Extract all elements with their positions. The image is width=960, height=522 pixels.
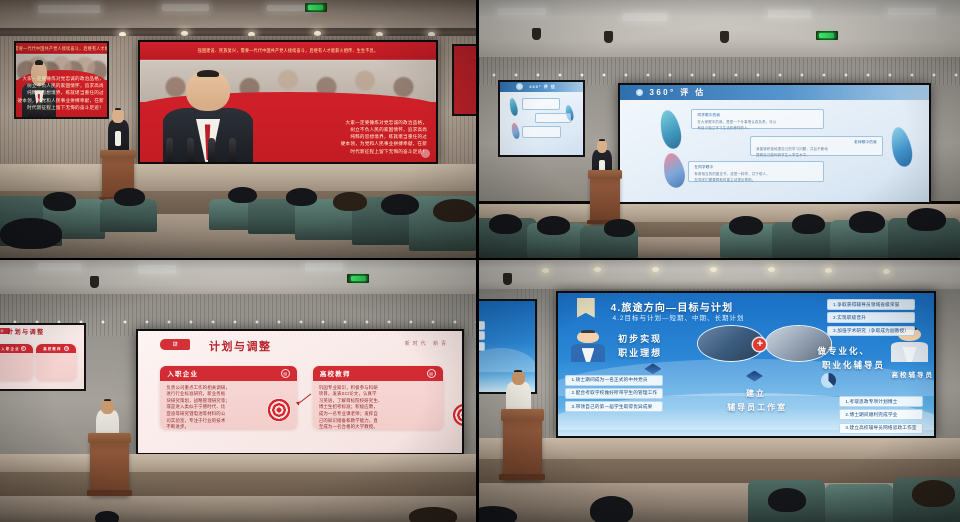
audience [479,454,960,522]
panel-bottom-left: 肆 计划与调整 入职企业▤ 高校教师▤ 肆 计划与调整 新时代 新青 [0,260,479,522]
panel-top-left: 强国建设、民族复兴，需要一代代中国共产党人接续奋斗，后继有人才能薪火相传、生生不… [0,0,479,260]
phrase-center-2: 辅导员工作室 [727,402,787,413]
phrase-left-1: 初步实现 [618,332,662,345]
eval-card: 老师眼中的我 我能够积极地提自己的学习问题，并且不断地 提着自己能列到学生入学生… [750,136,883,156]
slide-plan-adjust: 肆 计划与调整 新时代 新青 入职企业 ▤ 负责公司重点工作的相关调研， 进行行… [138,331,462,453]
audience-head [792,214,826,234]
target-icon [453,404,464,426]
slide-title: 计划与调整 [209,338,272,354]
audience-head [286,188,317,206]
card-title: 高校教师 [320,368,351,378]
audience-head [0,218,62,249]
bullet-item: 3.建立高校辅导员网络思政工作室 [839,423,922,434]
phrase-center-1: 建立 [746,388,766,399]
audience-head [912,480,955,507]
slide-career-plan: 4.旅途方向—目标与计划 4.2目标与计划—短期、中期、长期计划 初步实现 职业… [558,293,934,436]
ceiling [479,260,960,289]
audience-head [409,507,457,522]
phrase-right-1: 做专业化、 [818,345,871,357]
bullet-item: 2.实现职级晋升 [827,312,915,323]
audience-head [907,208,945,231]
side-screen-left: 强国建设、民族复兴，需要一代代中国共产党人接续奋斗，后继有人才能薪火相传、生生不… [14,41,109,118]
slide-360-evaluation: 360° 评 估 同学眼中的我 在大家眼中的我，是是一个什事情认真负责、可以 有… [620,85,929,202]
audience-head [849,211,885,232]
plan-card-teacher: 高校教师 ▤ 巩固专业知识，积极参与科研 项目，发表SCI论文，认真学 习英语，… [313,366,443,429]
label-far-right: 高校辅导员 [891,369,934,379]
audience [0,485,476,522]
slide-title: 360° 评 估 [649,87,705,98]
ceiling-panel [267,5,310,11]
audience-head [479,506,517,522]
feather-icon [888,125,914,168]
audience-head [537,216,571,235]
side-banner-text: 强国建设、民族复兴，需要一代代中国共产党人接续奋斗，后继有人才能薪火相传、生生不… [14,45,109,52]
bullets-left: 1.硕士期间成为一名正式的中共党员 2.配合考取学校做好所带学生的管理工作 3.… [565,375,663,412]
audience [479,191,960,258]
phrase-left-2: 职业理想 [618,346,662,359]
eval-card: 同学眼中的我 在大家眼中的我，是是一个什事情认真负责、可以 有自己独立学习生活的… [691,109,824,129]
slide-subtitle: 4.2目标与计划—短期、中期、长期计划 [612,312,744,322]
audience-head [114,188,145,206]
audience-head [228,187,257,204]
exit-sign [816,31,838,40]
slide-line: 树立不负人民的家国情怀，追求高尚 [350,127,427,133]
bullet-item: 2.博士期间顺利完成学业 [839,409,922,420]
audience-head [590,496,633,522]
briefcase-icon: ▤ [281,369,290,378]
audience [0,139,476,258]
slide-banner: 强国建设、民族复兴，需要一代代中国共产党人接续奋斗，后继有人才能薪火相传、生生不… [140,42,436,60]
bullet-item: 2.配合考取学校做好所带学生的管理工作 [565,388,663,399]
illustration-person-left [569,331,607,362]
arrow-icon [299,394,311,404]
bullets-bottom-right: 1.考取思政专项计划博士 2.博士期间顺利完成学业 3.建立高校辅导员网络思政工… [839,396,922,433]
bullet-item: 1.考取思政专项计划博士 [839,396,922,407]
side-screen-left: 肆 计划与调整 入职企业▤ 高校教师▤ [0,323,86,391]
panel-bottom-right: 1 2 3 4.旅途方向—目标与计划 4.2目标与计划—短期、中期、长期计划 [479,260,960,522]
feather-icon [660,151,687,190]
main-led-screen: 360° 评 估 同学眼中的我 在大家眼中的我，是是一个什事情认真负责、可以 有… [618,83,931,204]
ceiling-led-dots [479,65,960,77]
ceiling-panel [162,4,210,11]
bullets-top-right: 1.争取获得辅导员领域省级荣誉 2.实现职级晋升 3.加强学术研究（争取成为副教… [827,299,915,336]
main-led-screen: 4.旅途方向—目标与计划 4.2目标与计划—短期、中期、长期计划 初步实现 职业… [556,291,936,438]
ceiling-panel [38,5,100,13]
bullet-item: 3.加强学术研究（争取成为副教授） [827,326,915,337]
bullet-item: 1.争取获得辅导员领域省级荣誉 [827,299,915,310]
main-led-screen: 肆 计划与调整 新时代 新青 入职企业 ▤ 负责公司重点工作的相关调研， 进行行… [136,329,464,455]
audience-head [333,192,366,211]
auditorium-room: 1 2 3 4.旅途方向—目标与计划 4.2目标与计划—短期、中期、长期计划 [479,260,960,522]
bookmark-icon [577,298,595,318]
card-header: 入职企业 ▤ [160,366,296,381]
audience-head [729,216,763,235]
section-number-tag: 肆 [160,339,190,350]
slide-header: 360° 评 估 [620,85,929,100]
auditorium-room: 肆 计划与调整 入职企业▤ 高校教师▤ 肆 计划与调整 新时代 新青 [0,260,476,522]
audience-head [95,511,119,522]
audience-head [381,194,419,215]
graduation-cap-icon: ▤ [427,369,436,378]
feather-icon [657,109,683,151]
bullet-item: 1.硕士期间成为一名正式的中共党员 [565,375,663,386]
auditorium-room: 强国建设、民族复兴，需要一代代中国共产党人接续奋斗，后继有人才能薪火相传、生生不… [0,0,476,258]
auditorium-room: 360° 评 估 360° 评 估 [479,0,960,258]
eval-card: 在同学眼中 有着相当的的团支书，或是一种学、并于助人， 在同学们需要帮助时能主动… [688,161,824,182]
card-title: 入职企业 [167,368,198,378]
phrase-right-2: 职业化辅导员 [822,359,885,371]
plus-badge-icon: + [753,338,766,351]
audience-head [433,199,476,223]
side-screen-right [452,44,479,116]
audience-head [604,219,635,236]
slide-signature: 新时代 新青 [405,340,449,347]
panel-top-right: 360° 评 估 360° 评 估 [479,0,960,260]
snowflake-icon [636,89,643,96]
slide-banner-text: 强国建设、民族复兴，需要一代代中国共产党人接续奋斗，后继有人才能薪火相传、生生不… [198,48,379,55]
slide-line: 大家一定要锤炼对党忠诚的政治品格， [346,120,428,126]
exit-sign [305,3,327,12]
audience-head [489,214,523,234]
exit-sign [347,274,369,283]
audience-head [43,192,76,211]
card-body: 巩固专业知识，积极参与科研 项目，发表SCI论文，认真学 习英语，了解目标院校研… [313,381,443,429]
audience-head [768,488,806,513]
photo-grid: 强国建设、民族复兴，需要一代代中国共产党人接续奋斗，后继有人才能薪火相传、生生不… [0,0,960,522]
side-screen-left: 360° 评 估 [498,80,585,157]
card-header: 高校教师 ▤ [313,366,443,381]
bullet-item: 3.带领自己的第一届学生取得优异成果 [565,401,663,412]
